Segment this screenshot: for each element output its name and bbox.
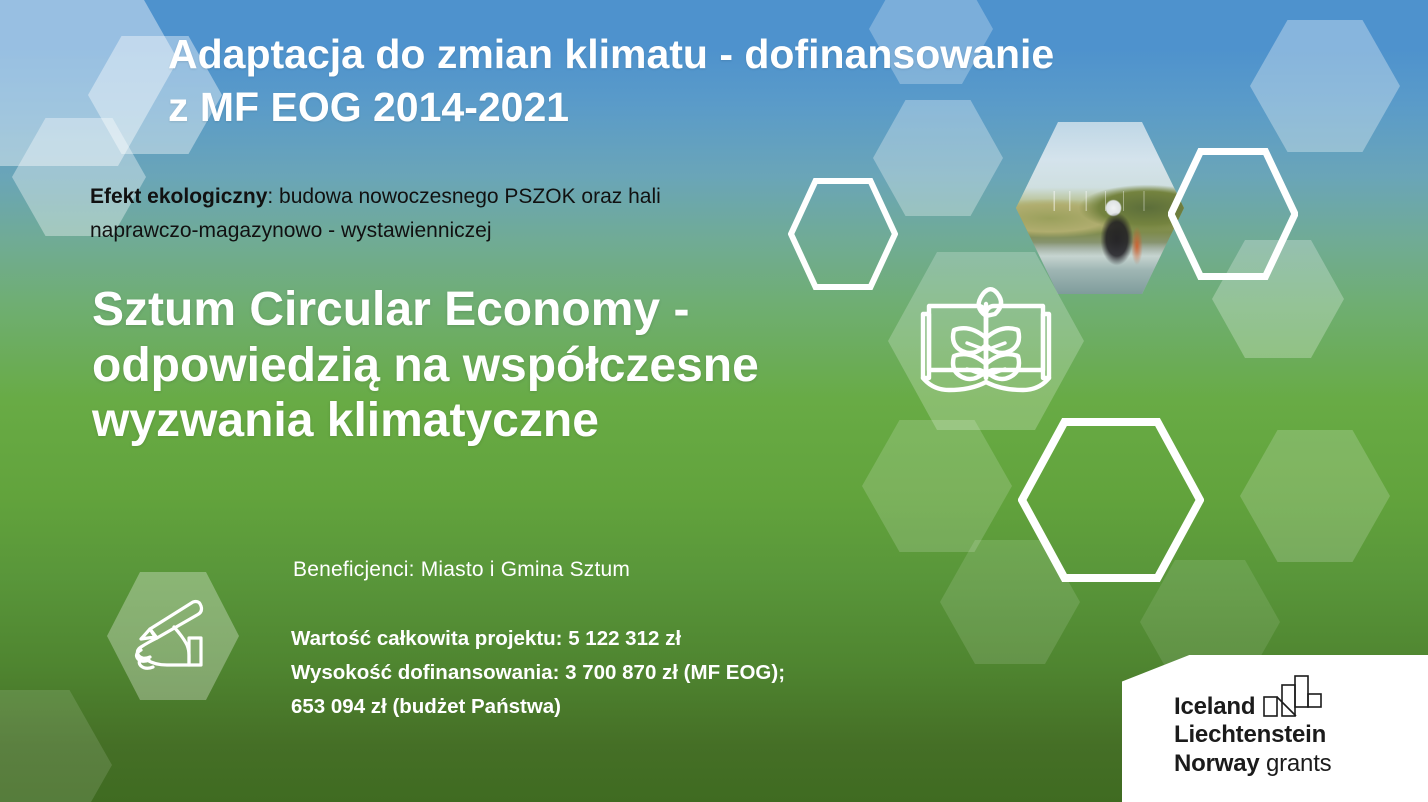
logo-grants-word: grants xyxy=(1260,750,1332,777)
eco-effect-text: Efekt ekologiczny: budowa nowoczesnego P… xyxy=(90,180,770,248)
project-headline: Sztum Circular Economy - odpowiedzią na … xyxy=(92,282,812,449)
logo-norway-word: Norway xyxy=(1174,750,1260,777)
book-plant-icon xyxy=(888,252,1084,430)
hand-writing-icon xyxy=(107,572,239,700)
logo-line-liechtenstein: Liechtenstein xyxy=(1174,721,1404,749)
page-title-line-1: Adaptacja do zmian klimatu - dofinansowa… xyxy=(168,31,1054,77)
funding-state-budget: 653 094 zł (budżet Państwa) xyxy=(291,690,931,724)
funding-details: Wartość całkowita projektu: 5 122 312 zł… xyxy=(291,622,931,724)
page-title: Adaptacja do zmian klimatu - dofinansowa… xyxy=(168,28,1228,135)
eea-norway-grants-logo-panel: Iceland Liechtenstein Norway grants xyxy=(1122,655,1428,802)
eco-effect-label: Efekt ekologiczny xyxy=(90,185,267,208)
grants-logo-mark xyxy=(1263,675,1325,717)
slide-canvas: Adaptacja do zmian klimatu - dofinansowa… xyxy=(0,0,1428,802)
logo-line-iceland: Iceland xyxy=(1174,693,1255,721)
page-title-line-2: z MF EOG 2014-2021 xyxy=(168,84,569,130)
logo-line-norway-grants: Norway grants xyxy=(1174,750,1404,778)
beneficiaries-text: Beneficjenci: Miasto i Gmina Sztum xyxy=(293,558,630,582)
funding-total: Wartość całkowita projektu: 5 122 312 zł xyxy=(291,622,931,656)
funding-cofinancing: Wysokość dofinansowania: 3 700 870 zł (M… xyxy=(291,656,931,690)
